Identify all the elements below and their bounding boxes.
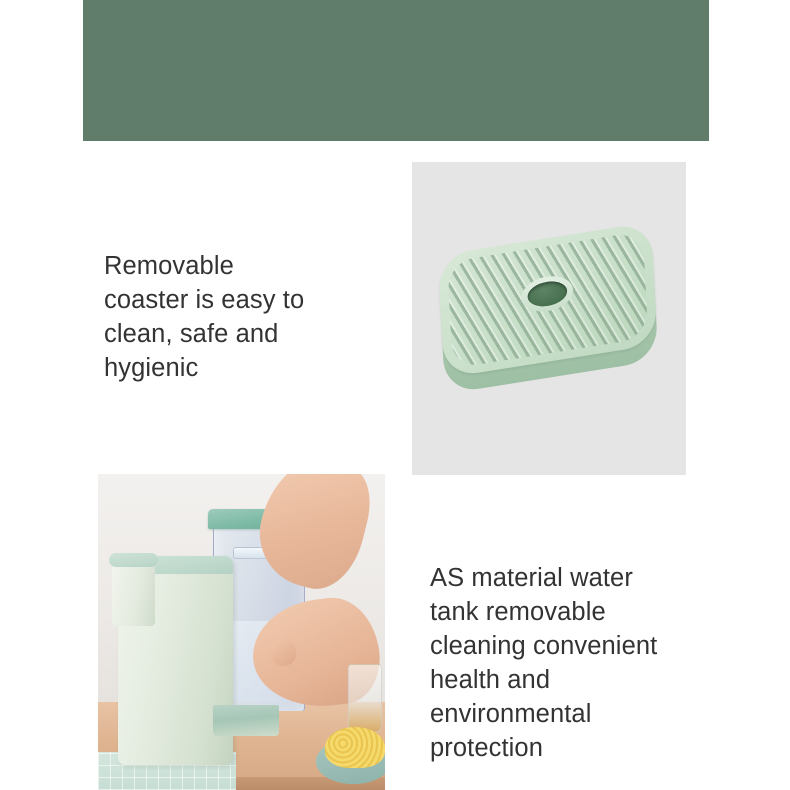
coaster-tray bbox=[438, 221, 660, 428]
dispenser-drip-tray bbox=[213, 705, 279, 737]
dispenser-scene bbox=[98, 474, 385, 790]
corn-food bbox=[325, 727, 385, 768]
dispenser-spout-lid bbox=[109, 553, 158, 567]
top-green-banner bbox=[83, 0, 709, 141]
dispenser-lifestyle-photo bbox=[98, 474, 385, 790]
feature-text-coaster: Removable coaster is easy to clean, safe… bbox=[104, 250, 354, 386]
coaster-tray-inner bbox=[447, 231, 648, 368]
coaster-stage bbox=[412, 162, 686, 475]
feature-text-water-tank: AS material water tank removable cleanin… bbox=[430, 562, 692, 765]
product-feature-page: Removable coaster is easy to clean, safe… bbox=[0, 0, 790, 790]
coaster-product-photo bbox=[412, 162, 686, 475]
drinking-glass bbox=[348, 664, 382, 734]
